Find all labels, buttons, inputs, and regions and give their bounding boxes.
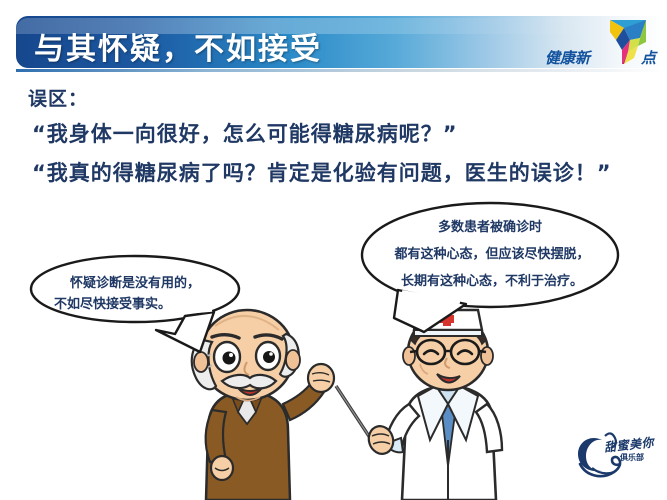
page-title: 与其怀疑，不如接受 — [34, 24, 322, 68]
misconception-quote-1: “我身体一向很好，怎么可能得糖尿病呢？” — [32, 118, 458, 148]
watermark-club-text: 俱乐部 — [620, 452, 644, 463]
brand-suffix: 点 — [641, 47, 656, 68]
lead-label: 误区： — [28, 84, 88, 111]
bubble-left-line-2: 不如尽快接受事实。 — [40, 293, 230, 312]
elderly-man-figure — [192, 310, 334, 500]
brand-label: 健康新 — [545, 47, 590, 68]
slide-canvas: 与其怀疑，不如接受 健康新 点 误区： “我身体一向很好，怎么可能得糖尿病呢？”… — [0, 0, 667, 500]
bubble-right-line-1: 多数患者被确诊时 — [370, 216, 610, 235]
bubble-left-line-1: 怀疑诊断是没有用的， — [40, 272, 230, 291]
brand-logo: 健康新 点 — [545, 18, 657, 72]
care-club-watermark: 甜蜜美你 俱乐部 — [572, 424, 662, 486]
bubble-right-line-3: 长期有这种心态，不利于治疗。 — [364, 270, 620, 289]
bubble-right-line-2: 都有这种心态，但应该尽快摆脱， — [364, 243, 620, 262]
doctor-figure — [336, 310, 502, 500]
misconception-quote-2: “我真的得糖尿病了吗？肯定是化验有问题，医生的误诊！” — [32, 157, 612, 187]
